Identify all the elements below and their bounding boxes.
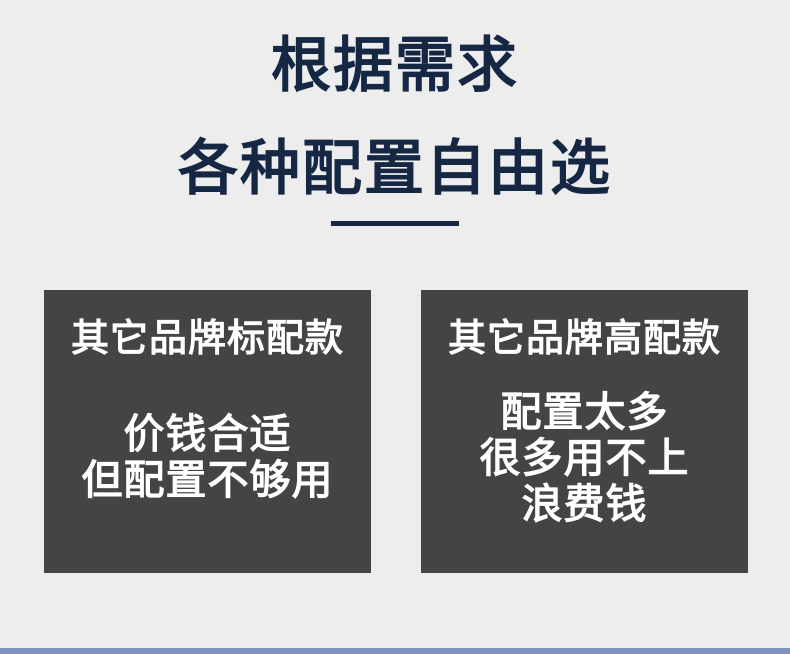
card-body-line: 配置太多 (421, 390, 748, 436)
card-body: 价钱合适 但配置不够用 (44, 412, 371, 504)
card-body-line: 价钱合适 (44, 412, 371, 458)
card-body: 配置太多 很多用不上 浪费钱 (421, 390, 748, 528)
card-title: 其它品牌标配款 (44, 320, 371, 360)
comparison-card-group: 其它品牌标配款 价钱合适 但配置不够用 其它品牌高配款 配置太多 很多用不上 浪… (0, 290, 790, 573)
heading-line-2: 各种配置自由选 (0, 139, 790, 199)
bottom-accent-bar (0, 648, 790, 654)
card-title: 其它品牌高配款 (421, 320, 748, 360)
heading-line-1: 根据需求 (0, 36, 790, 96)
card-body-line: 但配置不够用 (44, 458, 371, 504)
heading-divider-rule (331, 221, 459, 226)
promo-banner: 根据需求 各种配置自由选 其它品牌标配款 价钱合适 但配置不够用 其它品牌高配款… (0, 0, 790, 654)
card-other-brand-standard: 其它品牌标配款 价钱合适 但配置不够用 (44, 290, 371, 573)
card-body-line: 很多用不上 (421, 436, 748, 482)
card-other-brand-premium: 其它品牌高配款 配置太多 很多用不上 浪费钱 (421, 290, 748, 573)
card-body-line: 浪费钱 (421, 482, 748, 528)
